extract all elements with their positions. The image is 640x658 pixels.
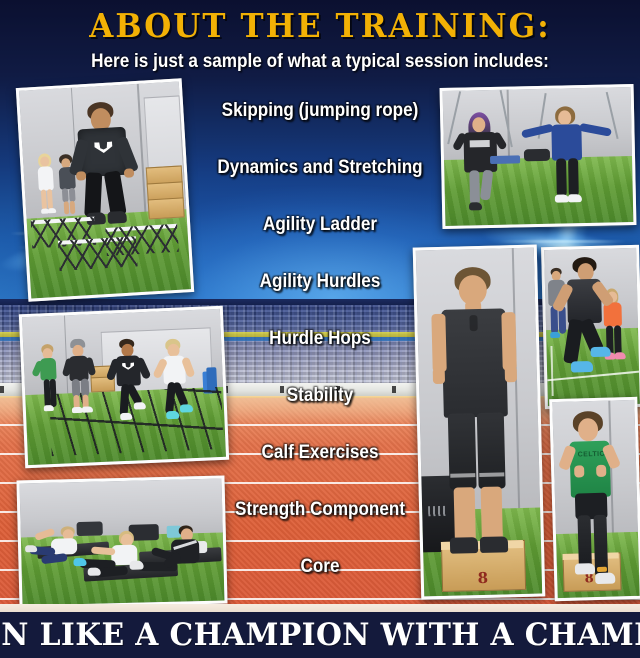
page-subtitle: Here is just a sample of what a typical … xyxy=(38,50,601,73)
photo-lateral-drill xyxy=(541,245,640,409)
photo-jump-rope-pair xyxy=(440,84,637,229)
page-title: ABOUT THE TRAINING: xyxy=(19,6,621,45)
photo-box-jump-rear: 8 xyxy=(413,245,546,600)
training-infographic: ABOUT THE TRAINING: Here is just a sampl… xyxy=(0,0,640,658)
photo-agility-ladder-group xyxy=(19,306,229,468)
footer-banner-text: TRAIN LIKE A CHAMPION WITH A CHAMPION xyxy=(0,617,640,653)
photo-stretching-group xyxy=(16,475,227,608)
banner-top-strip xyxy=(0,604,640,612)
photo-celtics-box-stand: 8 CELTICS xyxy=(549,397,640,601)
photo-athlete-hurdle-jump xyxy=(16,78,194,301)
footer-banner: TRAIN LIKE A CHAMPION WITH A CHAMPION xyxy=(0,612,640,658)
light-streak xyxy=(498,240,626,243)
